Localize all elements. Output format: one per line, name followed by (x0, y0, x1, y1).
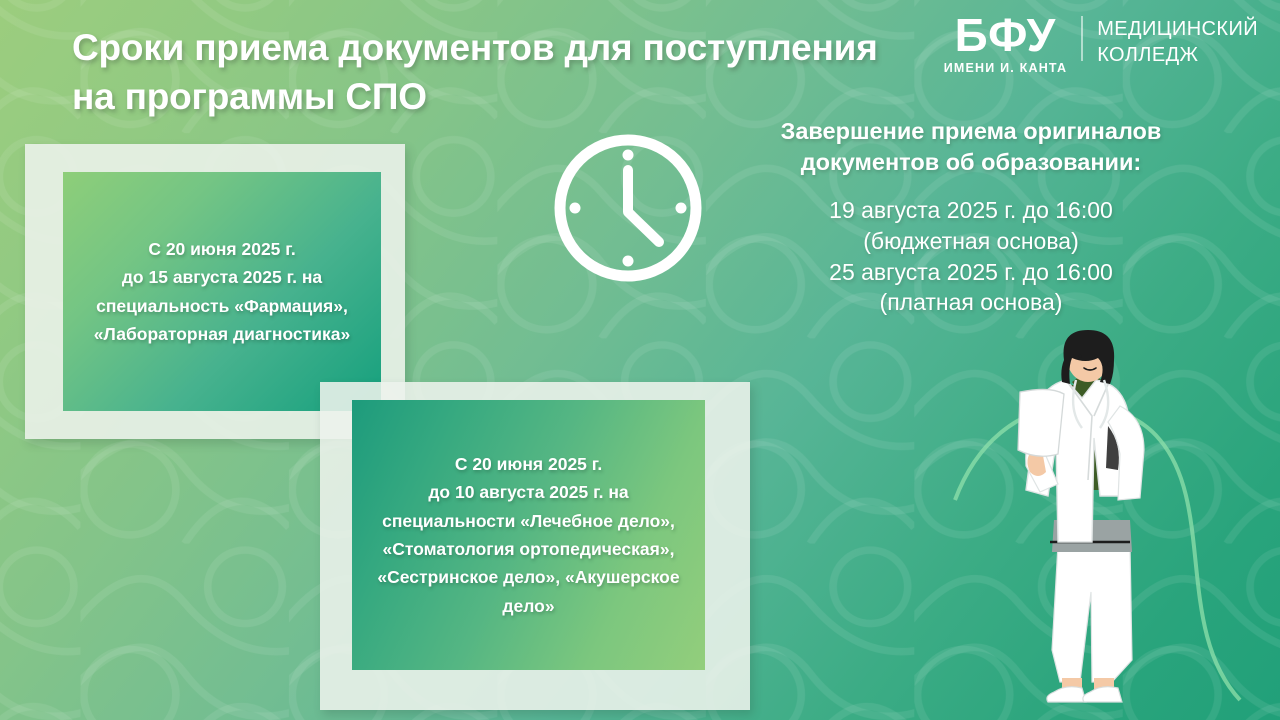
page-title: Сроки приема документов для поступления … (72, 24, 942, 122)
card-line-1: С 20 июня 2025 г. (77, 235, 367, 263)
deadline-heading: Завершение приема оригиналов документов … (726, 116, 1216, 179)
female-doctor-illustration (980, 330, 1210, 720)
logo-subtitle-text: ИМЕНИ И. КАНТА (944, 61, 1068, 75)
card-line-2: до 10 августа 2025 г. на специальности «… (366, 478, 691, 620)
deadline-dates: 19 августа 2025 г. до 16:00 (бюджетная о… (726, 195, 1216, 318)
logo-divider (1081, 16, 1083, 61)
card-content: С 20 июня 2025 г. до 10 августа 2025 г. … (352, 400, 705, 670)
slide-canvas: Сроки приема документов для поступления … (0, 0, 1280, 720)
logo-mark-text: БФУ (955, 14, 1057, 58)
card-content: С 20 июня 2025 г. до 15 августа 2025 г. … (63, 172, 381, 411)
card-line-2: до 15 августа 2025 г. на специальность «… (77, 263, 367, 348)
logo-college-name: МЕДИЦИНСКИЙ КОЛЛЕДЖ (1097, 12, 1258, 68)
brand-logo: БФУ ИМЕНИ И. КАНТА МЕДИЦИНСКИЙ КОЛЛЕДЖ (944, 12, 1258, 75)
card-line-1: С 20 июня 2025 г. (366, 450, 691, 478)
clock-icon (548, 128, 708, 288)
info-card-medical: С 20 июня 2025 г. до 10 августа 2025 г. … (320, 382, 750, 710)
logo-bfu-block: БФУ ИМЕНИ И. КАНТА (944, 12, 1068, 75)
deadline-panel: Завершение приема оригиналов документов … (726, 116, 1216, 318)
